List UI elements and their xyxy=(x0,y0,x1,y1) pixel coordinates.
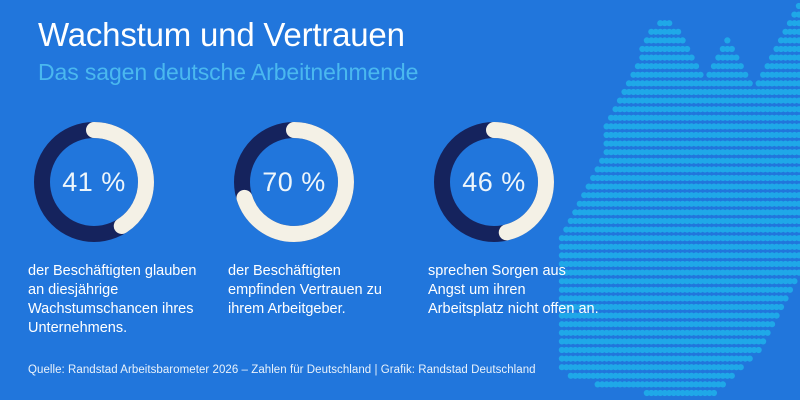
donut-value-label-2: 70 % xyxy=(230,118,358,246)
page-title: Wachstum und Vertrauen xyxy=(38,14,598,56)
donut-value-label-1: 41 % xyxy=(30,118,158,246)
stat-block-1: 41 % der Beschäftigten glauben an diesjä… xyxy=(28,118,188,338)
page-subtitle: Das sagen deutsche Arbeitnehmende xyxy=(38,56,598,88)
donut-value-label-3: 46 % xyxy=(430,118,558,246)
stat-caption-1: der Beschäftigten glauben an diesjährige… xyxy=(28,262,200,338)
source-credit: Quelle: Randstad Arbeitsbarometer 2026 –… xyxy=(28,364,536,376)
header: Wachstum und Vertrauen Das sagen deutsch… xyxy=(38,14,598,88)
stat-caption-2: der Beschäftigten empfinden Vertrauen zu… xyxy=(228,262,400,319)
stat-block-2: 70 % der Beschäftigten empfinden Vertrau… xyxy=(228,118,388,338)
donut-chart-3: 46 % xyxy=(430,118,558,246)
stat-block-3: 46 % sprechen Sorgen aus Angst um ihren … xyxy=(428,118,588,338)
donut-chart-2: 70 % xyxy=(230,118,358,246)
stats-row: 41 % der Beschäftigten glauben an diesjä… xyxy=(28,118,588,338)
stat-caption-3: sprechen Sorgen aus Angst um ihren Arbei… xyxy=(428,262,600,319)
infographic-canvas: Wachstum und Vertrauen Das sagen deutsch… xyxy=(0,0,800,400)
donut-chart-1: 41 % xyxy=(30,118,158,246)
